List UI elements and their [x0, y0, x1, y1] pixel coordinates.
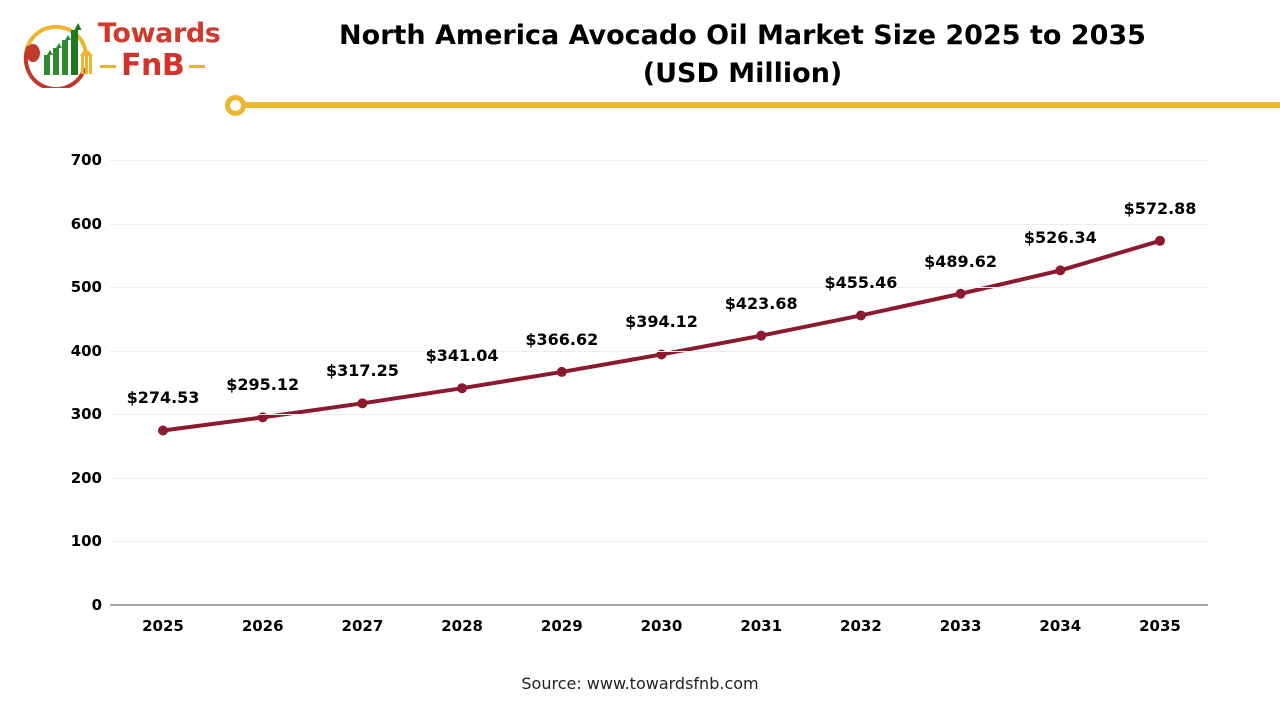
source-note: Source: www.towardsfnb.com: [0, 674, 1280, 693]
y-tick-label: 0: [44, 596, 102, 614]
x-tick-label: 2032: [840, 617, 882, 635]
x-tick-label: 2029: [541, 617, 583, 635]
y-tick-label: 600: [44, 215, 102, 233]
x-tick-label: 2026: [242, 617, 284, 635]
data-point-label: $274.53: [127, 388, 200, 407]
x-tick-label: 2034: [1039, 617, 1081, 635]
x-axis-line: [110, 604, 1208, 606]
gridline: [110, 541, 1208, 542]
x-tick-label: 2025: [142, 617, 184, 635]
y-tick-label: 500: [44, 278, 102, 296]
x-tick-label: 2033: [940, 617, 982, 635]
data-point-marker[interactable]: [158, 425, 168, 435]
data-point-label: $341.04: [426, 346, 499, 365]
data-point-label: $572.88: [1124, 199, 1197, 218]
gridline: [110, 160, 1208, 161]
gridline: [110, 287, 1208, 288]
series-line: [163, 241, 1160, 431]
data-point-marker[interactable]: [357, 398, 367, 408]
data-point-marker[interactable]: [956, 289, 966, 299]
x-tick-label: 2028: [441, 617, 483, 635]
data-point-label: $489.62: [924, 252, 997, 271]
y-tick-label: 300: [44, 405, 102, 423]
y-tick-label: 100: [44, 532, 102, 550]
x-tick-label: 2027: [342, 617, 384, 635]
gridline: [110, 414, 1208, 415]
data-point-marker[interactable]: [1055, 265, 1065, 275]
data-point-label: $423.68: [725, 294, 798, 313]
data-point-marker[interactable]: [557, 367, 567, 377]
data-point-marker[interactable]: [756, 331, 766, 341]
y-tick-label: 400: [44, 342, 102, 360]
data-point-marker[interactable]: [457, 383, 467, 393]
data-point-marker[interactable]: [856, 310, 866, 320]
plot-area: $274.53$295.12$317.25$341.04$366.62$394.…: [110, 160, 1208, 605]
data-point-label: $317.25: [326, 361, 399, 380]
x-tick-label: 2030: [641, 617, 683, 635]
data-point-marker[interactable]: [1155, 236, 1165, 246]
data-point-label: $295.12: [226, 375, 299, 394]
gridline: [110, 351, 1208, 352]
y-tick-label: 700: [44, 151, 102, 169]
y-tick-label: 200: [44, 469, 102, 487]
gridline: [110, 478, 1208, 479]
x-tick-label: 2035: [1139, 617, 1181, 635]
x-axis: 2025202620272028202920302031203220332034…: [110, 617, 1208, 643]
data-point-label: $366.62: [525, 330, 598, 349]
y-axis: 0100200300400500600700: [40, 160, 102, 605]
gridline: [110, 224, 1208, 225]
chart-canvas: 0100200300400500600700 $274.53$295.12$31…: [0, 0, 1280, 720]
data-point-label: $526.34: [1024, 228, 1097, 247]
data-point-label: $455.46: [824, 273, 897, 292]
data-point-label: $394.12: [625, 312, 698, 331]
x-tick-label: 2031: [740, 617, 782, 635]
